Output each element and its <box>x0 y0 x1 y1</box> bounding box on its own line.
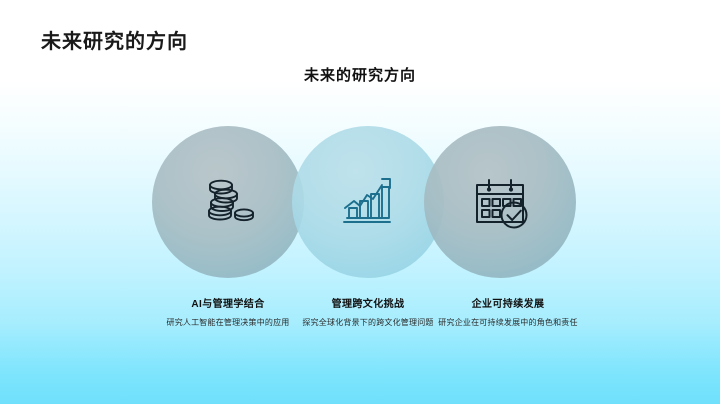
card-caption-2: 管理跨文化挑战 探究全球化背景下的跨文化管理问题 <box>288 298 448 329</box>
card-description-3: 研究企业在可持续发展中的角色和责任 <box>428 317 588 329</box>
section-heading: 未来的研究方向 <box>0 64 720 85</box>
slide-canvas: 未来研究的方向 未来的研究方向 <box>0 0 720 404</box>
circle-badge-1[interactable] <box>152 126 304 278</box>
card-title-1: AI与管理学结合 <box>148 298 308 312</box>
growth-bar-chart-arrow-icon <box>336 170 400 234</box>
calendar-check-icon <box>468 170 532 234</box>
page-title: 未来研究的方向 <box>41 25 188 54</box>
card-description-2: 探究全球化背景下的跨文化管理问题 <box>288 317 448 329</box>
card-caption-3: 企业可持续发展 研究企业在可持续发展中的角色和责任 <box>428 298 588 329</box>
card-description-1: 研究人工智能在管理决策中的应用 <box>148 317 308 329</box>
circle-badge-3[interactable] <box>424 126 576 278</box>
circles-row <box>0 126 720 291</box>
card-caption-1: AI与管理学结合 研究人工智能在管理决策中的应用 <box>148 298 308 329</box>
card-title-2: 管理跨文化挑战 <box>288 298 448 312</box>
card-title-3: 企业可持续发展 <box>428 298 588 312</box>
captions-row: AI与管理学结合 研究人工智能在管理决策中的应用 管理跨文化挑战 探究全球化背景… <box>0 298 720 368</box>
coins-stack-icon <box>196 170 260 234</box>
circle-badge-2[interactable] <box>292 126 444 278</box>
